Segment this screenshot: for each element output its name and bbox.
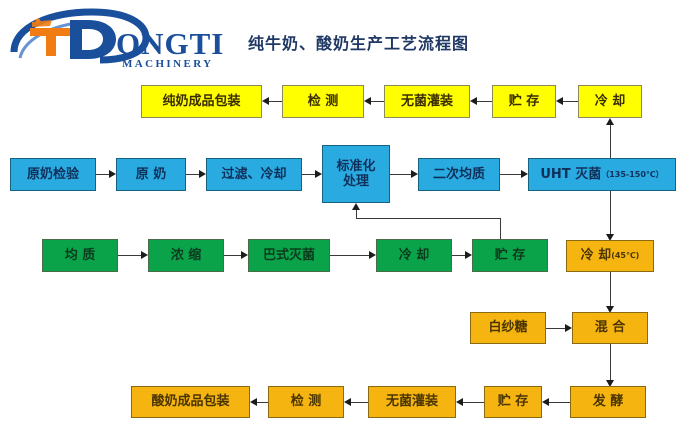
arrow-head xyxy=(411,170,418,178)
connector-line xyxy=(549,402,570,403)
node-label-sub: (45℃) xyxy=(611,251,639,260)
connector-line xyxy=(330,255,369,256)
svg-text:MACHINERY: MACHINERY xyxy=(122,58,214,70)
node-label: 冷 却 xyxy=(399,248,430,263)
connector-line xyxy=(463,402,484,403)
node-cooling-green[interactable]: 冷 却 xyxy=(376,239,452,272)
node-label: 发 酵 xyxy=(593,394,624,409)
node-label: 巴式灭菌 xyxy=(263,248,315,263)
node-mixing[interactable]: 混 合 xyxy=(572,312,648,344)
node-label: 冷 却 xyxy=(595,94,626,109)
arrow-head xyxy=(141,251,148,259)
arrow-head xyxy=(352,203,360,210)
connector-line xyxy=(610,125,611,158)
arrow-head xyxy=(456,398,463,406)
node-label: 贮 存 xyxy=(498,394,529,409)
arrow-head xyxy=(262,97,269,105)
node-pasteurization[interactable]: 巴式灭菌 xyxy=(248,239,330,272)
connector-line xyxy=(500,218,501,239)
connector-line xyxy=(477,101,492,102)
node-pure-milk-final-packaging[interactable]: 纯奶成品包装 xyxy=(141,85,262,118)
connector-line xyxy=(610,344,611,380)
connector-line xyxy=(351,402,368,403)
node-label: UHT 灭菌 xyxy=(540,167,601,182)
arrow-head xyxy=(369,251,376,259)
page-title: 纯牛奶、酸奶生产工艺流程图 xyxy=(248,30,469,54)
connector-line xyxy=(500,174,521,175)
connector-line xyxy=(224,255,241,256)
node-label: 无菌灌装 xyxy=(401,94,453,109)
node-second-homogenization[interactable]: 二次均质 xyxy=(418,158,500,191)
connector-line xyxy=(186,174,199,175)
arrow-head xyxy=(241,251,248,259)
node-raw-milk-inspection[interactable]: 原奶检验 xyxy=(10,158,96,191)
node-label: 原 奶 xyxy=(136,167,167,182)
node-uht-sterilization[interactable]: UHT 灭菌（135-150℃） xyxy=(528,158,676,191)
node-inspection-bottom[interactable]: 检 测 xyxy=(268,386,344,418)
company-logo: ONGTIE MACHINERY xyxy=(8,8,223,70)
node-white-sugar[interactable]: 白纱糖 xyxy=(470,312,546,344)
node-label: 贮 存 xyxy=(509,94,540,109)
connector-line xyxy=(96,174,109,175)
arrow-head xyxy=(250,398,257,406)
node-label-sub: （135-150℃） xyxy=(601,170,663,179)
node-aseptic-filling-bottom[interactable]: 无菌灌装 xyxy=(368,386,456,418)
svg-text:ONGTIE: ONGTIE xyxy=(116,26,223,61)
node-inspection-top[interactable]: 检 测 xyxy=(282,85,364,118)
node-standardization[interactable]: 标准化 处理 xyxy=(322,145,390,203)
node-storage-top[interactable]: 贮 存 xyxy=(492,85,556,118)
arrow-head xyxy=(109,170,116,178)
node-label: 白纱糖 xyxy=(488,320,527,335)
connector-line xyxy=(390,174,411,175)
arrow-head xyxy=(556,97,563,105)
node-aseptic-filling-top[interactable]: 无菌灌装 xyxy=(384,85,470,118)
node-label: 二次均质 xyxy=(433,167,485,182)
node-label: 贮 存 xyxy=(495,248,526,263)
node-label: 原奶检验 xyxy=(27,167,79,182)
arrow-head xyxy=(315,170,322,178)
node-concentration[interactable]: 浓 缩 xyxy=(148,239,224,272)
node-cooling-45[interactable]: 冷 却(45℃) xyxy=(566,240,654,272)
arrow-head xyxy=(364,97,371,105)
node-label: 过滤、冷却 xyxy=(221,167,286,182)
connector-line xyxy=(356,218,501,219)
node-label: 检 测 xyxy=(308,94,339,109)
node-homogenization[interactable]: 均 质 xyxy=(42,239,118,272)
connector-line xyxy=(356,210,357,219)
connector-line xyxy=(257,402,268,403)
connector-line xyxy=(118,255,141,256)
arrow-head xyxy=(465,251,472,259)
node-label-line2: 处理 xyxy=(343,174,369,189)
arrow-head xyxy=(199,170,206,178)
arrow-head xyxy=(521,170,528,178)
arrow-head xyxy=(470,97,477,105)
connector-line xyxy=(546,328,565,329)
node-storage-green[interactable]: 贮 存 xyxy=(472,239,548,272)
connector-line xyxy=(610,272,611,306)
node-raw-milk[interactable]: 原 奶 xyxy=(116,158,186,191)
arrow-head xyxy=(542,398,549,406)
node-label: 纯奶成品包装 xyxy=(162,94,240,109)
arrow-head xyxy=(606,118,614,125)
node-label: 浓 缩 xyxy=(171,248,202,263)
connector-line xyxy=(452,255,465,256)
node-yogurt-final-packaging[interactable]: 酸奶成品包装 xyxy=(131,386,250,418)
node-cooling-top[interactable]: 冷 却 xyxy=(578,85,642,118)
arrow-head xyxy=(565,324,572,332)
node-fermentation[interactable]: 发 酵 xyxy=(570,386,646,418)
connector-line xyxy=(563,101,578,102)
connector-line xyxy=(269,101,282,102)
connector-line xyxy=(610,191,611,234)
connector-line xyxy=(302,174,315,175)
node-label: 冷 却 xyxy=(581,248,612,263)
arrow-head xyxy=(344,398,351,406)
node-label: 混 合 xyxy=(595,320,626,335)
node-label: 均 质 xyxy=(65,248,96,263)
node-label: 标准化 xyxy=(336,159,375,174)
node-label: 检 测 xyxy=(291,394,322,409)
connector-line xyxy=(371,101,384,102)
node-storage-bottom[interactable]: 贮 存 xyxy=(484,386,542,418)
node-label: 无菌灌装 xyxy=(386,394,438,409)
flowchart-canvas: ONGTIE MACHINERY 纯牛奶、酸奶生产工艺流程图 纯奶成品包装 检 … xyxy=(0,0,690,442)
node-label: 酸奶成品包装 xyxy=(151,394,229,409)
node-filter-cooling[interactable]: 过滤、冷却 xyxy=(206,158,302,191)
